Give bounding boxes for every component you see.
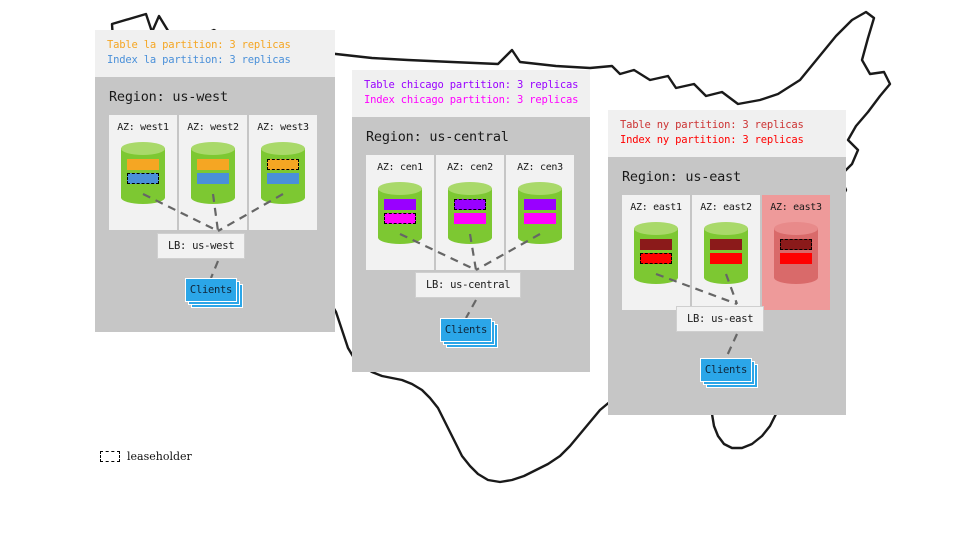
az-cell-west3[interactable]: AZ: west3 bbox=[249, 115, 317, 230]
load-balancer-us-west[interactable]: LB: us-west bbox=[157, 233, 245, 259]
az-label: AZ: west1 bbox=[117, 122, 169, 133]
replica-band bbox=[127, 159, 159, 170]
clients-group-us-central: Clients bbox=[440, 318, 492, 342]
cylinder-top bbox=[261, 142, 305, 155]
load-balancer-us-central[interactable]: LB: us-central bbox=[415, 272, 521, 298]
cylinder-bottom bbox=[704, 271, 748, 284]
az-label: AZ: west2 bbox=[187, 122, 239, 133]
cylinder-top bbox=[191, 142, 235, 155]
replica-band bbox=[197, 173, 229, 184]
az-cell-cen1[interactable]: AZ: cen1 bbox=[366, 155, 434, 270]
database-cylinder-icon bbox=[704, 222, 748, 284]
load-balancer-us-east[interactable]: LB: us-east bbox=[676, 306, 764, 332]
cylinder-bottom bbox=[448, 231, 492, 244]
cylinder-top bbox=[448, 182, 492, 195]
az-row: AZ: west1AZ: west2AZ: west3 bbox=[109, 115, 321, 230]
partition-info-line: Table chicago partition: 3 replicas bbox=[364, 78, 578, 93]
clients-group-us-west: Clients bbox=[185, 278, 237, 302]
az-label: AZ: west3 bbox=[257, 122, 309, 133]
clients-label[interactable]: Clients bbox=[185, 278, 237, 302]
replica-band-leaseholder bbox=[127, 173, 159, 184]
az-cell-east2[interactable]: AZ: east2 bbox=[692, 195, 760, 310]
database-cylinder-icon bbox=[518, 182, 562, 244]
region-title: Region: us-east bbox=[608, 157, 846, 195]
az-label: AZ: cen2 bbox=[447, 162, 493, 173]
replica-band bbox=[267, 173, 299, 184]
clients-group-us-east: Clients bbox=[700, 358, 752, 382]
az-label: AZ: cen3 bbox=[517, 162, 563, 173]
region-header-us-east: Table ny partition: 3 replicasIndex ny p… bbox=[608, 110, 846, 157]
cylinder-bottom bbox=[634, 271, 678, 284]
replica-band-leaseholder bbox=[780, 239, 812, 250]
az-label: AZ: cen1 bbox=[377, 162, 423, 173]
partition-info-line: Index la partition: 3 replicas bbox=[107, 53, 323, 68]
legend: leaseholder bbox=[100, 450, 192, 463]
cylinder-top bbox=[378, 182, 422, 195]
database-cylinder-icon bbox=[121, 142, 165, 204]
replica-band bbox=[197, 159, 229, 170]
cylinder-bottom bbox=[261, 191, 305, 204]
replica-band-leaseholder bbox=[640, 253, 672, 264]
az-row: AZ: cen1AZ: cen2AZ: cen3 bbox=[366, 155, 576, 270]
az-label: AZ: east1 bbox=[630, 202, 682, 213]
clients-label[interactable]: Clients bbox=[700, 358, 752, 382]
database-cylinder-icon bbox=[634, 222, 678, 284]
replica-band bbox=[524, 213, 556, 224]
cylinder-top bbox=[518, 182, 562, 195]
cylinder-top bbox=[774, 222, 818, 235]
az-row: AZ: east1AZ: east2AZ: east3 bbox=[622, 195, 832, 310]
clients-stack[interactable]: Clients bbox=[440, 318, 492, 342]
az-cell-cen3[interactable]: AZ: cen3 bbox=[506, 155, 574, 270]
replica-band-leaseholder bbox=[384, 213, 416, 224]
az-cell-cen2[interactable]: AZ: cen2 bbox=[436, 155, 504, 270]
partition-info-line: Table ny partition: 3 replicas bbox=[620, 118, 834, 133]
database-cylinder-icon bbox=[261, 142, 305, 204]
clients-stack[interactable]: Clients bbox=[700, 358, 752, 382]
az-label: AZ: east2 bbox=[700, 202, 752, 213]
replica-band bbox=[384, 199, 416, 210]
az-cell-east1[interactable]: AZ: east1 bbox=[622, 195, 690, 310]
partition-info-line: Table la partition: 3 replicas bbox=[107, 38, 323, 53]
cylinder-bottom bbox=[378, 231, 422, 244]
replica-band bbox=[454, 213, 486, 224]
partition-info-line: Index chicago partition: 3 replicas bbox=[364, 93, 578, 108]
region-header-us-central: Table chicago partition: 3 replicasIndex… bbox=[352, 70, 590, 117]
az-cell-east3[interactable]: AZ: east3 bbox=[762, 195, 830, 310]
replica-band-leaseholder bbox=[267, 159, 299, 170]
az-cell-west1[interactable]: AZ: west1 bbox=[109, 115, 177, 230]
partition-info-line: Index ny partition: 3 replicas bbox=[620, 133, 834, 148]
replica-band-leaseholder bbox=[454, 199, 486, 210]
cylinder-top bbox=[634, 222, 678, 235]
cylinder-bottom bbox=[518, 231, 562, 244]
clients-label[interactable]: Clients bbox=[440, 318, 492, 342]
replica-band bbox=[640, 239, 672, 250]
region-title: Region: us-west bbox=[95, 77, 335, 115]
clients-stack[interactable]: Clients bbox=[185, 278, 237, 302]
az-label: AZ: east3 bbox=[770, 202, 822, 213]
replica-band bbox=[710, 239, 742, 250]
replica-band bbox=[524, 199, 556, 210]
region-title: Region: us-central bbox=[352, 117, 590, 155]
legend-label: leaseholder bbox=[127, 450, 192, 463]
replica-band bbox=[780, 253, 812, 264]
leaseholder-swatch-icon bbox=[100, 451, 120, 462]
cylinder-bottom bbox=[774, 271, 818, 284]
database-cylinder-icon bbox=[774, 222, 818, 284]
database-cylinder-icon bbox=[378, 182, 422, 244]
cylinder-top bbox=[704, 222, 748, 235]
database-cylinder-icon bbox=[448, 182, 492, 244]
database-cylinder-icon bbox=[191, 142, 235, 204]
cylinder-bottom bbox=[121, 191, 165, 204]
cylinder-top bbox=[121, 142, 165, 155]
replica-band bbox=[710, 253, 742, 264]
cylinder-bottom bbox=[191, 191, 235, 204]
region-header-us-west: Table la partition: 3 replicasIndex la p… bbox=[95, 30, 335, 77]
az-cell-west2[interactable]: AZ: west2 bbox=[179, 115, 247, 230]
